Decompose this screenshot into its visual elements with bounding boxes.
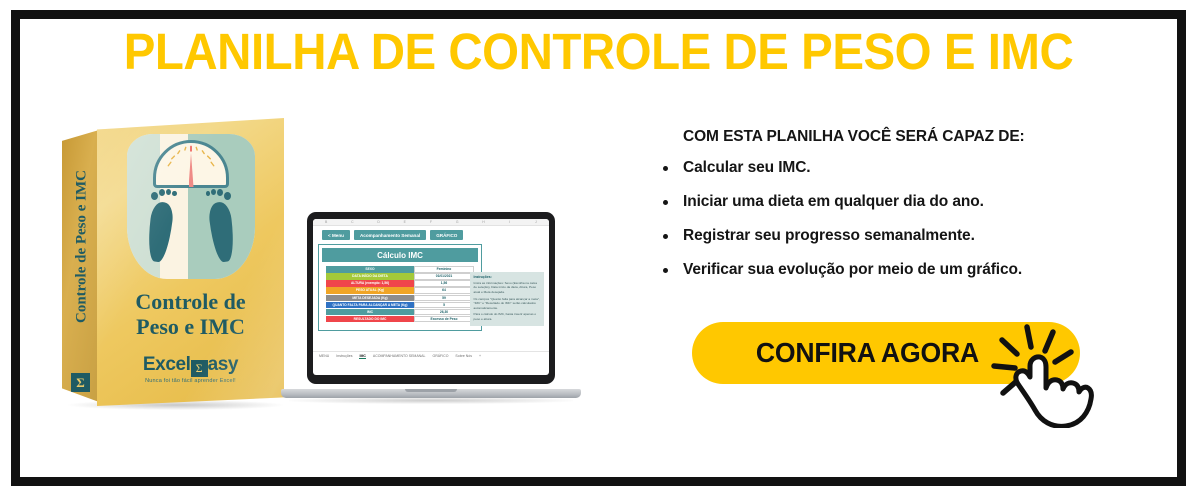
sigma-logo-icon: Σ: [71, 373, 90, 392]
table-row-label: META DESEJADA (Kg): [326, 295, 414, 301]
column-header: B: [313, 220, 339, 224]
table-row-value[interactable]: 26,30: [414, 309, 474, 315]
product-box: Controle de Peso e IMC Σ: [62, 118, 284, 406]
laptop-base: [281, 389, 581, 398]
table-row-label: RESULTADO DO IMC: [326, 316, 414, 322]
spreadsheet-body: < Menu Acompanhamento Semanal GRÁFICO Cá…: [313, 226, 549, 360]
imc-calculator-card: Cálculo IMC SEXOFemininoDATA INÍCIO DA D…: [318, 244, 482, 331]
feature-list-section: COM ESTA PLANILHA VOCÊ SERÁ CAPAZ DE: Ca…: [655, 128, 1155, 295]
toe-icon: [206, 191, 211, 196]
instructions-paragraph: Para o cálculo do IMC, basta inserir ape…: [474, 312, 541, 321]
promo-banner: PLANILHA DE CONTROLE DE PESO E IMC Contr…: [0, 0, 1197, 496]
instructions-panel: Instruções: Insira as informações: Sexo …: [470, 272, 544, 326]
column-header: F: [418, 220, 444, 224]
table-row-value[interactable]: 01/01/2021: [414, 273, 474, 279]
sheet-tab-imc[interactable]: IMC: [359, 354, 365, 359]
brand-logo: ExcelΣasy Nunca foi tão fácil aprender E…: [97, 354, 284, 384]
toe-icon: [224, 192, 231, 200]
table-row: SEXOFeminino: [326, 266, 474, 272]
instructions-title: Instruções:: [474, 275, 541, 279]
brand-logo-right: asy: [208, 354, 239, 375]
toe-icon: [166, 189, 171, 195]
feature-list-heading: COM ESTA PLANILHA VOCÊ SERÁ CAPAZ DE:: [655, 128, 1155, 146]
table-row-label: ALTURA (exemplo: 1,56): [326, 280, 414, 286]
sheet-nav-buttons: < Menu Acompanhamento Semanal GRÁFICO: [318, 230, 544, 240]
sheet-tab-menu[interactable]: MENU: [319, 354, 329, 358]
table-row: PESO ATUAL (Kg)64: [326, 287, 474, 293]
sheet-tab-sobre-nós[interactable]: Sobre Nós: [455, 354, 472, 358]
list-item: Verificar sua evolução por meio de um gr…: [655, 261, 1155, 279]
nav-button-menu[interactable]: < Menu: [322, 230, 350, 240]
imc-card-title: Cálculo IMC: [322, 248, 478, 262]
product-title-line2: Peso e IMC: [97, 315, 284, 340]
table-row-value[interactable]: 64: [414, 287, 474, 293]
sheet-tab-instruções[interactable]: Instruções: [336, 354, 352, 358]
scale-dial-icon: [153, 140, 229, 188]
column-header: G: [444, 220, 470, 224]
product-box-front: Controle de Peso e IMC ExcelΣasy Nunca f…: [97, 118, 284, 406]
table-row-value[interactable]: 1,56: [414, 280, 474, 286]
product-box-spine: Controle de Peso e IMC Σ: [62, 130, 99, 402]
bathroom-scale-icon: [127, 134, 255, 279]
sheet-tab-gráfico[interactable]: GRÁFICO: [432, 354, 448, 358]
column-header: E: [392, 220, 418, 224]
list-item: Iniciar uma dieta em qualquer dia do ano…: [655, 193, 1155, 211]
table-row-value[interactable]: Excesso de Peso: [414, 316, 474, 322]
cta-section: CONFIRA AGORA: [692, 322, 1084, 392]
column-header: I: [497, 220, 523, 224]
table-row: RESULTADO DO IMCExcesso de Peso: [326, 316, 474, 322]
table-row-value[interactable]: 59: [414, 295, 474, 301]
sigma-logo-icon: Σ: [191, 360, 208, 377]
table-row-value[interactable]: Feminino: [414, 266, 474, 272]
spine-title: Controle de Peso e IMC: [74, 132, 91, 362]
table-row-label: SEXO: [326, 266, 414, 272]
table-row: META DESEJADA (Kg)59: [326, 295, 474, 301]
table-row: ALTURA (exemplo: 1,56)1,56: [326, 280, 474, 286]
imc-table: SEXOFemininoDATA INÍCIO DA DIETA01/01/20…: [322, 266, 478, 327]
list-item: Calcular seu IMC.: [655, 159, 1155, 177]
toe-icon: [151, 192, 158, 200]
table-row: DATA INÍCIO DA DIETA01/01/2021: [326, 273, 474, 279]
page-title: PLANILHA DE CONTROLE DE PESO E IMC: [42, 26, 1155, 77]
table-row-label: IMC: [326, 309, 414, 315]
laptop-notch: [407, 213, 455, 219]
table-row-label: DATA INÍCIO DA DIETA: [326, 273, 414, 279]
spreadsheet-column-headers: B C D E F G H I J: [313, 219, 549, 226]
toe-icon: [159, 189, 165, 196]
brand-logo-left: Excel: [143, 354, 191, 375]
instructions-paragraph: Insira as informações: Sexo (Escolha na …: [474, 281, 541, 294]
table-row: QUANTO FALTA PARA ALCANÇAR A META (Kg)5: [326, 302, 474, 308]
toe-icon: [211, 189, 216, 195]
sheet-tab-bar: MENUInstruçõesIMCACOMPANHAMENTO SEMANALG…: [313, 351, 549, 360]
brand-tagline: Nunca foi tão fácil aprender Excel!: [97, 378, 284, 384]
column-header: D: [365, 220, 391, 224]
feature-bullet-list: Calcular seu IMC. Iniciar uma dieta em q…: [655, 159, 1155, 279]
column-header: J: [523, 220, 549, 224]
product-title-line1: Controle de: [97, 290, 284, 315]
toe-icon: [172, 191, 177, 196]
laptop-shadow: [289, 397, 573, 404]
laptop-mockup: B C D E F G H I J < Menu Acompanhamento …: [281, 212, 581, 410]
cta-label: CONFIRA AGORA: [755, 337, 978, 369]
list-item: Registrar seu progresso semanalmente.: [655, 227, 1155, 245]
toe-icon: [217, 189, 223, 196]
nav-button-grafico[interactable]: GRÁFICO: [430, 230, 463, 240]
instructions-paragraph: Os campos "Quanto falta para alcançar a …: [474, 297, 541, 310]
sheet-tab-+[interactable]: +: [479, 354, 481, 358]
sheet-tab-acompanhamento-semanal[interactable]: ACOMPANHAMENTO SEMANAL: [373, 354, 426, 358]
nav-button-acompanhamento[interactable]: Acompanhamento Semanal: [354, 230, 426, 240]
laptop-lid: B C D E F G H I J < Menu Acompanhamento …: [307, 212, 555, 384]
confira-agora-button[interactable]: CONFIRA AGORA: [692, 322, 1080, 384]
laptop-screen: B C D E F G H I J < Menu Acompanhamento …: [313, 219, 549, 375]
table-row-label: PESO ATUAL (Kg): [326, 287, 414, 293]
table-row-label: QUANTO FALTA PARA ALCANÇAR A META (Kg): [326, 302, 414, 308]
column-header: H: [470, 220, 496, 224]
table-row: IMC26,30: [326, 309, 474, 315]
column-header: C: [339, 220, 365, 224]
table-row-value[interactable]: 5: [414, 302, 474, 308]
product-title: Controle de Peso e IMC: [97, 290, 284, 339]
